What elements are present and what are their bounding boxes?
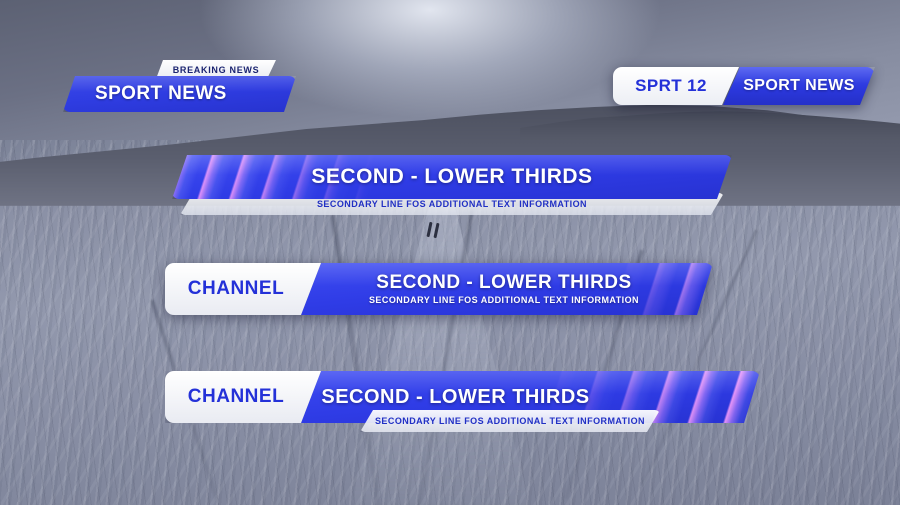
lower-third-1[interactable]: SECONDARY LINE FOS ADDITIONAL TEXT INFOR…	[172, 155, 732, 221]
lower-third-2[interactable]: SECOND - LOWER THIRDS SECONDARY LINE FOS…	[165, 263, 713, 315]
lower-third-3-channel-label: CHANNEL	[188, 386, 284, 408]
lower-third-2-plate[interactable]: SECOND - LOWER THIRDS SECONDARY LINE FOS…	[301, 263, 713, 315]
breaking-news-label: BREAKING NEWS	[173, 65, 260, 75]
lower-third-1-subtitle: SECONDARY LINE FOS ADDITIONAL TEXT INFOR…	[317, 199, 587, 209]
sport-news-title: SPORT NEWS	[95, 83, 227, 105]
lower-third-1-plate[interactable]: SECOND - LOWER THIRDS	[172, 155, 732, 199]
top-left-banner[interactable]: BREAKING NEWS SPORT NEWS	[63, 60, 313, 120]
lower-third-3-subtitle: SECONDARY LINE FOS ADDITIONAL TEXT INFOR…	[375, 416, 645, 426]
broadcast-graphics-preview: BREAKING NEWS SPORT NEWS SPORT NEWS SPRT…	[0, 0, 900, 505]
lower-third-3-channel-tag[interactable]: CHANNEL	[165, 371, 321, 423]
lower-third-2-channel-label: CHANNEL	[188, 278, 284, 300]
channel-id-plate[interactable]: SPRT 12	[613, 67, 739, 105]
lower-third-2-text-group: SECOND - LOWER THIRDS SECONDARY LINE FOS…	[301, 263, 713, 315]
channel-id-label: SPRT 12	[635, 76, 707, 96]
skier-figure	[424, 222, 446, 238]
lower-third-1-title: SECOND - LOWER THIRDS	[172, 155, 732, 199]
top-right-title: SPORT NEWS	[743, 77, 855, 95]
sport-news-plate[interactable]: SPORT NEWS	[63, 76, 296, 112]
top-right-banner[interactable]: SPORT NEWS SPRT 12	[613, 67, 875, 105]
lower-third-2-channel-tag[interactable]: CHANNEL	[165, 263, 321, 315]
lower-third-3-subbar[interactable]: SECONDARY LINE FOS ADDITIONAL TEXT INFOR…	[360, 410, 660, 432]
lower-third-2-subtitle: SECONDARY LINE FOS ADDITIONAL TEXT INFOR…	[369, 295, 639, 305]
lower-third-2-title: SECOND - LOWER THIRDS	[376, 273, 631, 293]
top-right-title-plate[interactable]: SPORT NEWS	[723, 67, 875, 105]
